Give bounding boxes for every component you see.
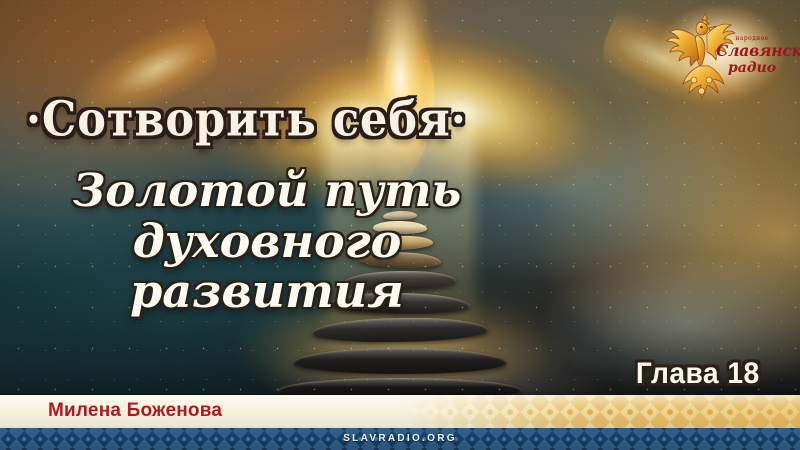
page-title: ·Сотворить себя· <box>26 92 467 148</box>
logo-text-block: народное Славянское радио <box>716 36 788 75</box>
page-subtitle: Золотой путь духовного развития <box>52 166 482 316</box>
poster-canvas: народное Славянское радио ·Сотворить себ… <box>0 0 800 450</box>
subtitle-line-3: развития <box>52 266 482 316</box>
logo-main-text: Славянское <box>716 43 788 59</box>
chapter-label: Глава 18 <box>636 357 760 391</box>
slavradio-logo[interactable]: народное Славянское радио <box>662 6 790 102</box>
subtitle-line-2: духовного <box>52 216 482 266</box>
url-band: SLAVRADIO.ORG <box>0 428 800 450</box>
author-name: Милена Боженова <box>48 400 222 422</box>
author-band: Милена Боженова <box>0 395 800 428</box>
subtitle-line-1: Золотой путь <box>52 166 482 216</box>
site-url[interactable]: SLAVRADIO.ORG <box>0 433 800 444</box>
logo-sub-text: радио <box>716 61 788 75</box>
